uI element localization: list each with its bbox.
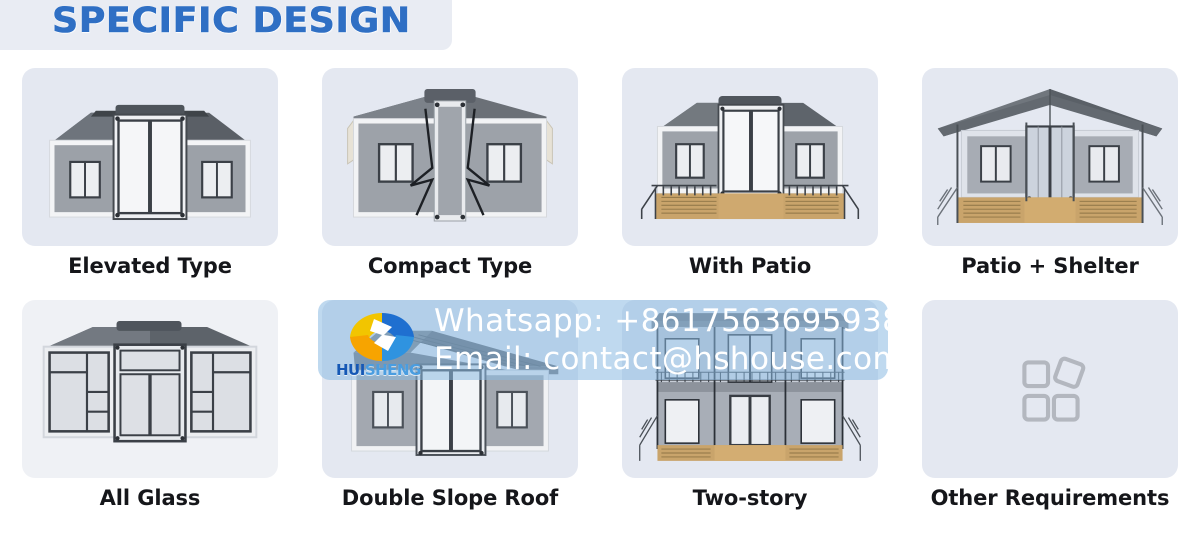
design-card-label: Two-story [600,486,900,510]
grid-cell: All Glass [0,290,300,522]
page-title: SPECIFIC DESIGN [52,1,411,41]
design-card-label: With Patio [600,254,900,278]
grid-tiles-icon [922,300,1178,478]
design-card-label: Double Slope Roof [300,486,600,510]
design-grid: Elevated Type [0,58,1200,522]
design-card-all-glass[interactable] [22,300,278,478]
house-doubleslope-illustration [322,300,578,478]
design-card-label: Compact Type [300,254,600,278]
design-card-label: All Glass [0,486,300,510]
grid-cell: Patio + Shelter [900,58,1200,290]
design-card-with-patio[interactable] [622,68,878,246]
house-patio-illustration [622,68,878,246]
house-glass-illustration [22,300,278,478]
design-card-patio-shelter[interactable] [922,68,1178,246]
grid-cell: With Patio [600,58,900,290]
grid-cell: Compact Type [300,58,600,290]
house-elevated-illustration [22,68,278,246]
house-compact-illustration [322,68,578,246]
design-card-compact-type[interactable] [322,68,578,246]
header-banner: SPECIFIC DESIGN [0,0,452,50]
design-card-label: Patio + Shelter [900,254,1200,278]
house-shelter-illustration [922,68,1178,246]
design-card-label: Other Requirements [900,486,1200,510]
grid-cell: Double Slope Roof [300,290,600,522]
design-card-other-requirements[interactable] [922,300,1178,478]
design-card-label: Elevated Type [0,254,300,278]
design-card-two-story[interactable] [622,300,878,478]
page-root: SPECIFIC DESIGN [0,0,1200,542]
grid-cell: Elevated Type [0,58,300,290]
design-card-elevated-type[interactable] [22,68,278,246]
grid-cell: Other Requirements [900,290,1200,522]
design-card-double-slope-roof[interactable] [322,300,578,478]
house-twostory-illustration [622,300,878,478]
grid-cell: Two-story [600,290,900,522]
